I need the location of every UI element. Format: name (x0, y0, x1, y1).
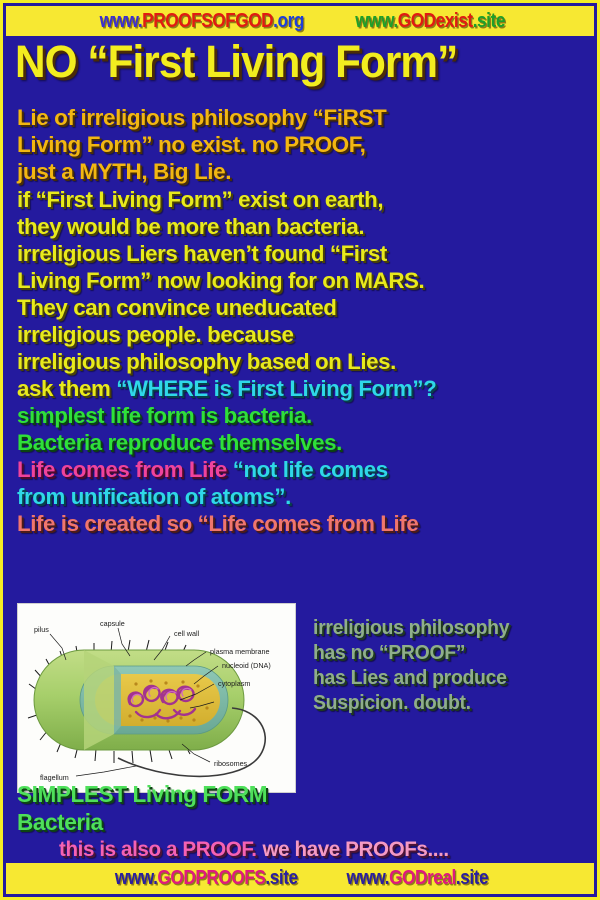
bacterium-illustration: pilus capsule cell wall plasma membrane … (18, 604, 295, 792)
body-line-7: Living Form” now looking for on MARS. (17, 270, 424, 293)
right-block-line-2: has no “PROOF” (313, 642, 465, 665)
body-line-unification-of-atoms: from unification of atoms”. (17, 486, 291, 509)
url-suffix: .site (456, 867, 488, 889)
body-line-life-comes-from-life: Life comes from Life “not life comes (17, 459, 388, 482)
diagram-label-ribosomes: ribosomes (214, 759, 248, 768)
url-suffix: .site (472, 10, 504, 32)
link-godexist[interactable]: www.GODexist.site (355, 10, 505, 33)
body-line-life-is-created: Life is created so “Life comes from Life (17, 513, 418, 536)
url-main: GODPROOFS (158, 867, 266, 889)
right-block-line-4: Suspicion. doubt. (313, 692, 471, 715)
diagram-label-pilus: pilus (34, 625, 49, 634)
url-prefix: www. (100, 10, 143, 32)
diagram-label-cytoplasm: cytoplasm (218, 679, 250, 688)
diagram-label-cell-wall: cell wall (174, 629, 200, 638)
body-line-ask-them: ask them “WHERE is First Living Form”? (17, 378, 436, 401)
body-line-8: They can convince uneducated (17, 297, 336, 320)
body-line-5: they would be more than bacteria. (17, 216, 364, 239)
caption-proof-line: this is also a PROOF.we have PROOFs.... (59, 839, 449, 860)
body-line-3: just a MYTH, Big Lie. (17, 161, 231, 184)
caption-proof-part2: we have PROOFs.... (263, 838, 449, 861)
body-line-2: Living Form” no exist. no PROOF, (17, 134, 365, 157)
body-line-1: Lie of irreligious philosophy “FiRST (17, 107, 386, 130)
bacterium-diagram: pilus capsule cell wall plasma membrane … (17, 603, 296, 793)
link-godreal[interactable]: www.GODreal.site (346, 867, 488, 890)
url-main: PROOFSOFGOD (142, 10, 273, 32)
link-godproofs[interactable]: www.GODPROOFS.site (115, 867, 298, 890)
ask-them-text: ask them (17, 376, 116, 401)
where-question-text: “WHERE is First Living Form”? (116, 376, 436, 401)
url-prefix: www. (355, 10, 398, 32)
url-main: GODexist (397, 10, 472, 32)
body-line-simplest-life: simplest life form is bacteria. (17, 405, 312, 428)
top-banner: www.PROOFSOFGOD.org www.GODexist.site (6, 6, 594, 36)
body-line-9: irreligious people. because (17, 324, 294, 347)
page-title: NO “First Living Form” (15, 39, 565, 85)
diagram-label-plasma-membrane: plasma membrane (210, 647, 270, 656)
body-line-4: if “First Living Form” exist on earth, (17, 189, 383, 212)
caption-simplest-living-form: SIMPLEST Living FORM (17, 783, 267, 806)
cut-edge (84, 650, 114, 750)
url-main: GODreal (389, 867, 456, 889)
url-suffix: .org (273, 10, 304, 32)
diagram-label-capsule: capsule (100, 619, 125, 628)
body-line-bacteria-reproduce: Bacteria reproduce themselves. (17, 432, 342, 455)
url-prefix: www. (115, 867, 158, 889)
bottom-banner: www.GODPROOFS.site www.GODreal.site (6, 863, 594, 894)
right-block-line-1: irreligious philosophy (313, 617, 509, 640)
poster-canvas: www.PROOFSOFGOD.org www.GODexist.site NO… (0, 0, 600, 900)
life-comes-text: Life comes from Life (17, 457, 233, 482)
url-prefix: www. (346, 867, 389, 889)
url-suffix: .site (266, 867, 298, 889)
diagram-label-nucleoid: nucleoid (DNA) (222, 661, 271, 670)
not-life-comes-text: “not life comes (233, 457, 388, 482)
caption-bacteria: Bacteria (17, 811, 103, 834)
link-proofsofgod[interactable]: www.PROOFSOFGOD.org (100, 10, 304, 33)
caption-proof-part1: this is also a PROOF. (59, 838, 257, 861)
cut-edge-inner (114, 666, 121, 734)
body-line-10: irreligious philosophy based on Lies. (17, 351, 396, 374)
body-line-6: irreligious Liers haven’t found “First (17, 243, 387, 266)
right-block-line-3: has Lies and produce (313, 667, 507, 690)
